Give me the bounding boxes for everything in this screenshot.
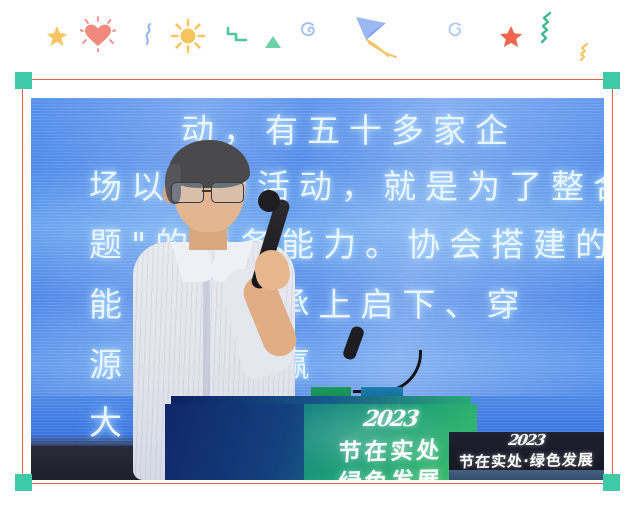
photo-frame-border <box>22 79 613 484</box>
frame-corner-bottom-left <box>15 474 32 491</box>
star-red-icon <box>498 24 524 50</box>
spiral-blue-2-icon <box>447 20 467 40</box>
zigzag-yellow-icon <box>578 40 596 62</box>
decorative-doodle-strip <box>0 0 635 75</box>
zigzag-teal-icon <box>538 10 562 44</box>
paper-plane-icon <box>352 12 408 62</box>
triangle-green-icon <box>264 34 282 50</box>
zigzag-green-icon <box>226 26 250 46</box>
star-yellow-icon <box>45 24 69 48</box>
sun-icon <box>170 18 206 54</box>
spiral-blue-icon <box>299 19 321 41</box>
squiggle-blue-icon <box>143 23 155 45</box>
frame-corner-top-left <box>15 72 32 89</box>
heart-burst-icon <box>80 16 116 52</box>
frame-corner-bottom-right <box>603 474 620 491</box>
frame-corner-top-right <box>603 72 620 89</box>
